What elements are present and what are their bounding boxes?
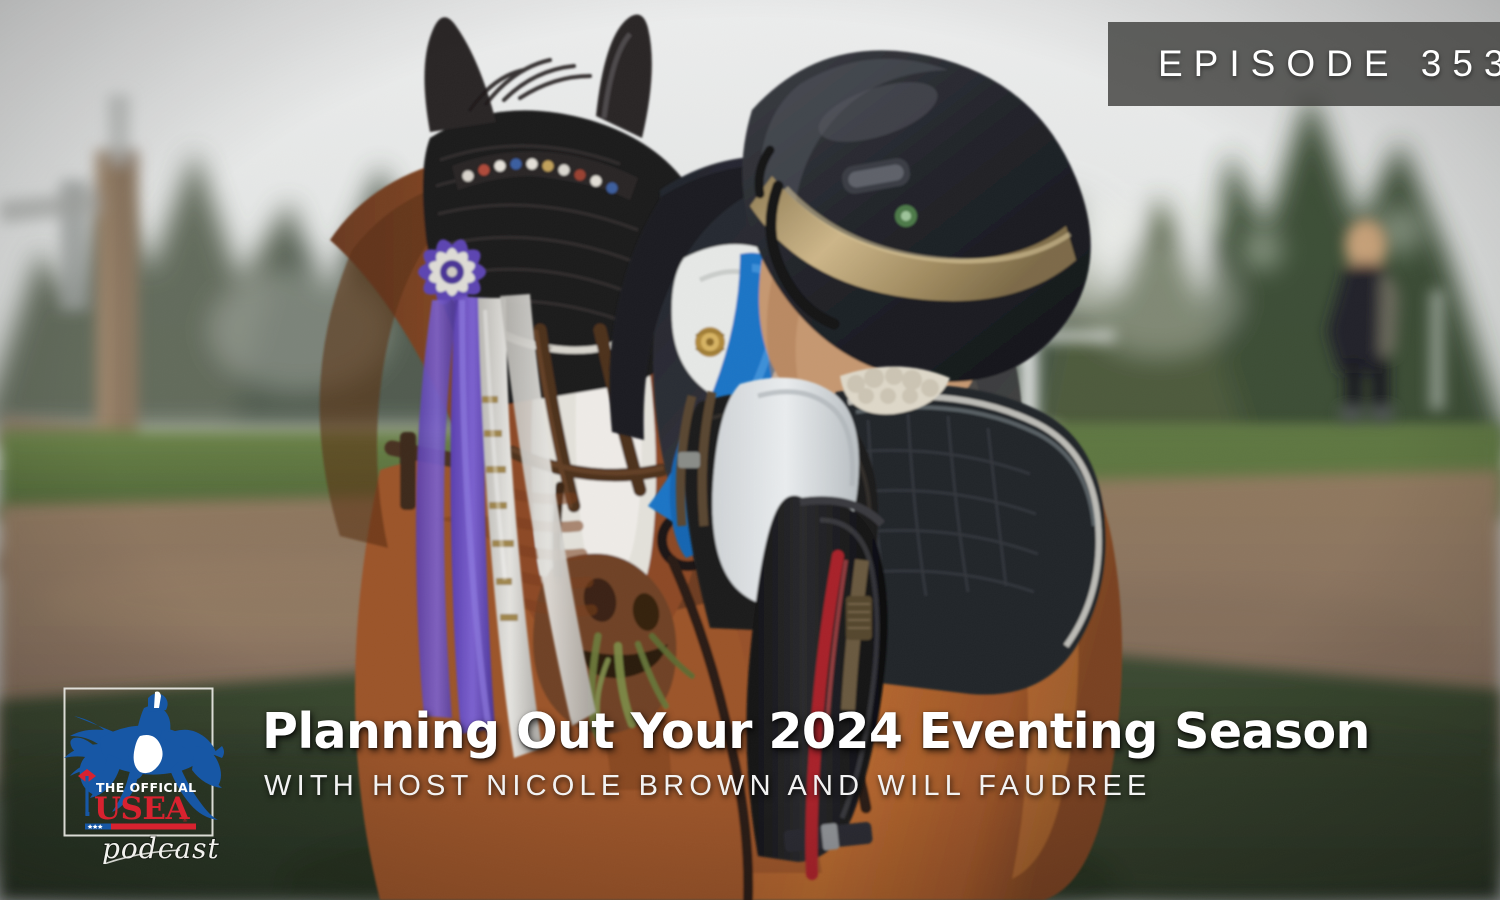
title-block: Planning Out Your 2024 Eventing Season W… bbox=[262, 704, 1462, 803]
podcast-cover-art: EPISODE 353 Planning Out Your 2024 Event… bbox=[0, 0, 1500, 900]
logo-star-bar bbox=[85, 824, 196, 830]
logo-usea-text: USEA bbox=[94, 791, 191, 827]
episode-hosts-subtitle: WITH HOST NICOLE BROWN AND WILL FAUDREE bbox=[264, 770, 1462, 803]
usea-podcast-logo: THE OFFICIAL USEA ® podcast bbox=[62, 686, 232, 864]
episode-title: Planning Out Your 2024 Eventing Season bbox=[262, 704, 1462, 760]
episode-number-label: EPISODE 353 bbox=[1158, 43, 1500, 85]
logo-registered-mark: ® bbox=[182, 817, 188, 824]
episode-badge: EPISODE 353 bbox=[1108, 22, 1500, 106]
